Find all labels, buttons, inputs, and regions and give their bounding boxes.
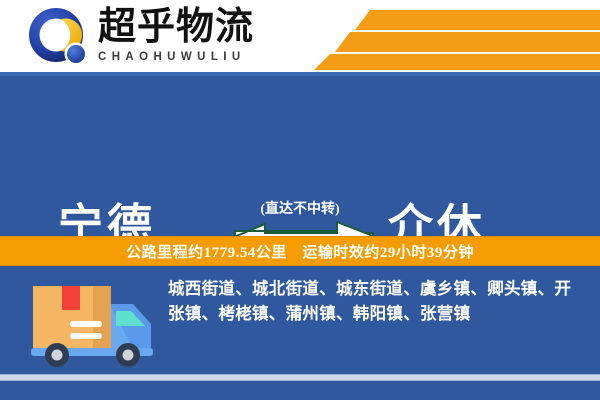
circle-logo-icon xyxy=(27,7,91,69)
distance-duration-text: 公路里程约1779.54公里 运输时效约29小时39分钟 xyxy=(126,241,474,262)
distance-duration-bar: 公路里程约1779.54公里 运输时效约29小时39分钟 xyxy=(0,236,600,266)
logistics-route-poster: 超乎物流 CHAOHUWULIU 宁德 (直达不中转) 【往返运输】 介休 xyxy=(0,0,600,400)
bottom-divider xyxy=(0,374,600,381)
delivery-truck-icon xyxy=(21,274,163,370)
brand-name-en: CHAOHUWULIU xyxy=(98,51,278,63)
header: 超乎物流 CHAOHUWULIU xyxy=(0,0,600,76)
brand-wordmark: 超乎物流 CHAOHUWULIU xyxy=(98,6,278,63)
coverage-panel: 城西街道、城北街道、城东街道、虞乡镇、卿头镇、开张镇、栲栳镇、蒲州镇、韩阳镇、张… xyxy=(0,266,600,400)
speed-stripes-icon xyxy=(300,0,600,72)
direct-route-note: (直达不中转) xyxy=(0,198,600,218)
route-panel: 宁德 (直达不中转) 【往返运输】 介休 xyxy=(0,76,600,236)
brand-name-cn: 超乎物流 xyxy=(98,6,278,48)
coverage-areas-text: 城西街道、城北街道、城东街道、虞乡镇、卿头镇、开张镇、栲栳镇、蒲州镇、韩阳镇、张… xyxy=(168,276,586,326)
